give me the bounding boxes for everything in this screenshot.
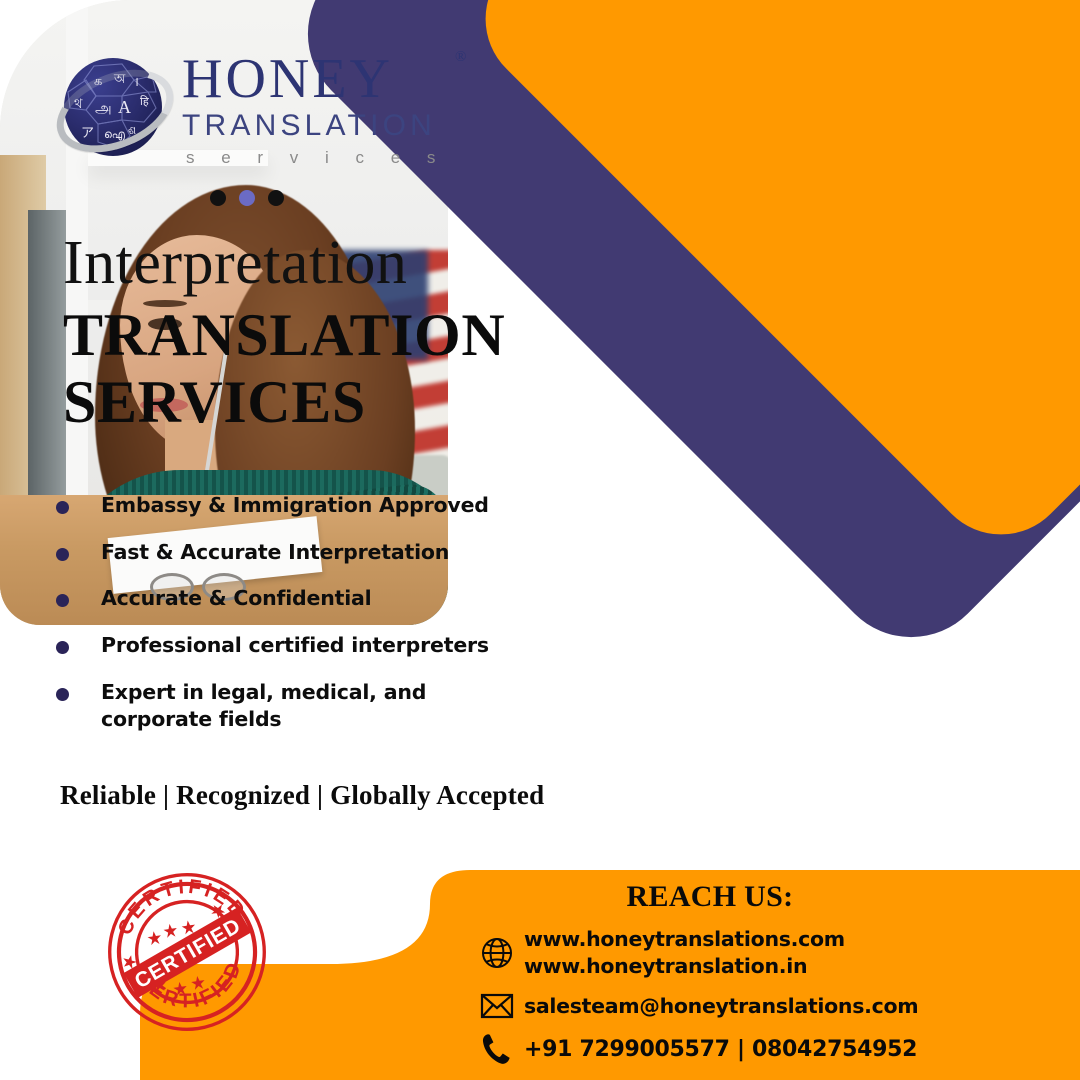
list-item-label: Embassy & Immigration Approved [101, 492, 489, 520]
bullet-icon [56, 688, 69, 701]
website-primary[interactable]: www.honeytranslations.com [524, 927, 845, 951]
dot-1 [210, 190, 226, 206]
list-item-label: Accurate & Confidential [101, 585, 372, 613]
feature-list: Embassy & Immigration Approved Fast & Ac… [56, 492, 526, 753]
globe-icon [470, 936, 524, 970]
list-item: Fast & Accurate Interpretation [56, 539, 526, 567]
registered-trademark-icon: ® [455, 50, 466, 65]
dot-2 [239, 190, 255, 206]
logo-tagline: s e r v i c e s [182, 148, 446, 168]
bullet-icon [56, 548, 69, 561]
contact-block: REACH US: www.honeytranslations.com www.… [470, 880, 1070, 1066]
headline-block: Interpretation TRANSLATION SERVICES [63, 232, 505, 436]
phone-text[interactable]: +91 7299005577 | 08042754952 [524, 1035, 917, 1064]
list-item: Expert in legal, medical, and corporate … [56, 679, 526, 734]
email-text[interactable]: salesteam@honeytranslations.com [524, 993, 918, 1020]
website-secondary[interactable]: www.honeytranslation.in [524, 954, 807, 978]
poster-canvas: க অ । থ அ A हि ア ഐ ଶ HONEY ® TRANSLATION [0, 0, 1080, 1080]
certified-stamp-icon: CERTIFIED CERTIFIED CERTIFIED [92, 857, 282, 1047]
brand-logo: க অ । থ அ A हि ア ഐ ଶ HONEY ® TRANSLATION [56, 46, 446, 168]
photo-corner-notch [533, 636, 653, 696]
bullet-icon [56, 641, 69, 654]
dot-3 [268, 190, 284, 206]
dot-divider [210, 190, 284, 206]
contact-row-website[interactable]: www.honeytranslations.com www.honeytrans… [470, 926, 1070, 980]
bullet-icon [56, 594, 69, 607]
list-item-label: Fast & Accurate Interpretation [101, 539, 449, 567]
list-item-label: Professional certified interpreters [101, 632, 489, 660]
logo-subtitle: TRANSLATION [182, 109, 446, 142]
headline-bold-line-1: TRANSLATION [63, 302, 505, 369]
trust-tagline: Reliable | Recognized | Globally Accepte… [60, 780, 544, 811]
list-item: Embassy & Immigration Approved [56, 492, 526, 520]
contact-row-phone[interactable]: +91 7299005577 | 08042754952 [470, 1032, 1070, 1066]
logo-wordmark-text: HONEY [182, 48, 393, 110]
list-item: Accurate & Confidential [56, 585, 526, 613]
website-text[interactable]: www.honeytranslations.com www.honeytrans… [524, 926, 845, 980]
headline-bold-line-2: SERVICES [63, 369, 505, 436]
contact-row-email[interactable]: salesteam@honeytranslations.com [470, 992, 1070, 1020]
globe-icon: க অ । থ அ A हि ア ഐ ଶ [56, 52, 172, 168]
envelope-icon [470, 992, 524, 1020]
list-item: Professional certified interpreters [56, 632, 526, 660]
list-item-label: Expert in legal, medical, and corporate … [101, 679, 451, 734]
bullet-icon [56, 501, 69, 514]
phone-icon [470, 1032, 524, 1066]
logo-wordmark: HONEY ® [182, 52, 446, 107]
headline-script: Interpretation [63, 232, 505, 294]
contact-heading: REACH US: [510, 880, 910, 914]
